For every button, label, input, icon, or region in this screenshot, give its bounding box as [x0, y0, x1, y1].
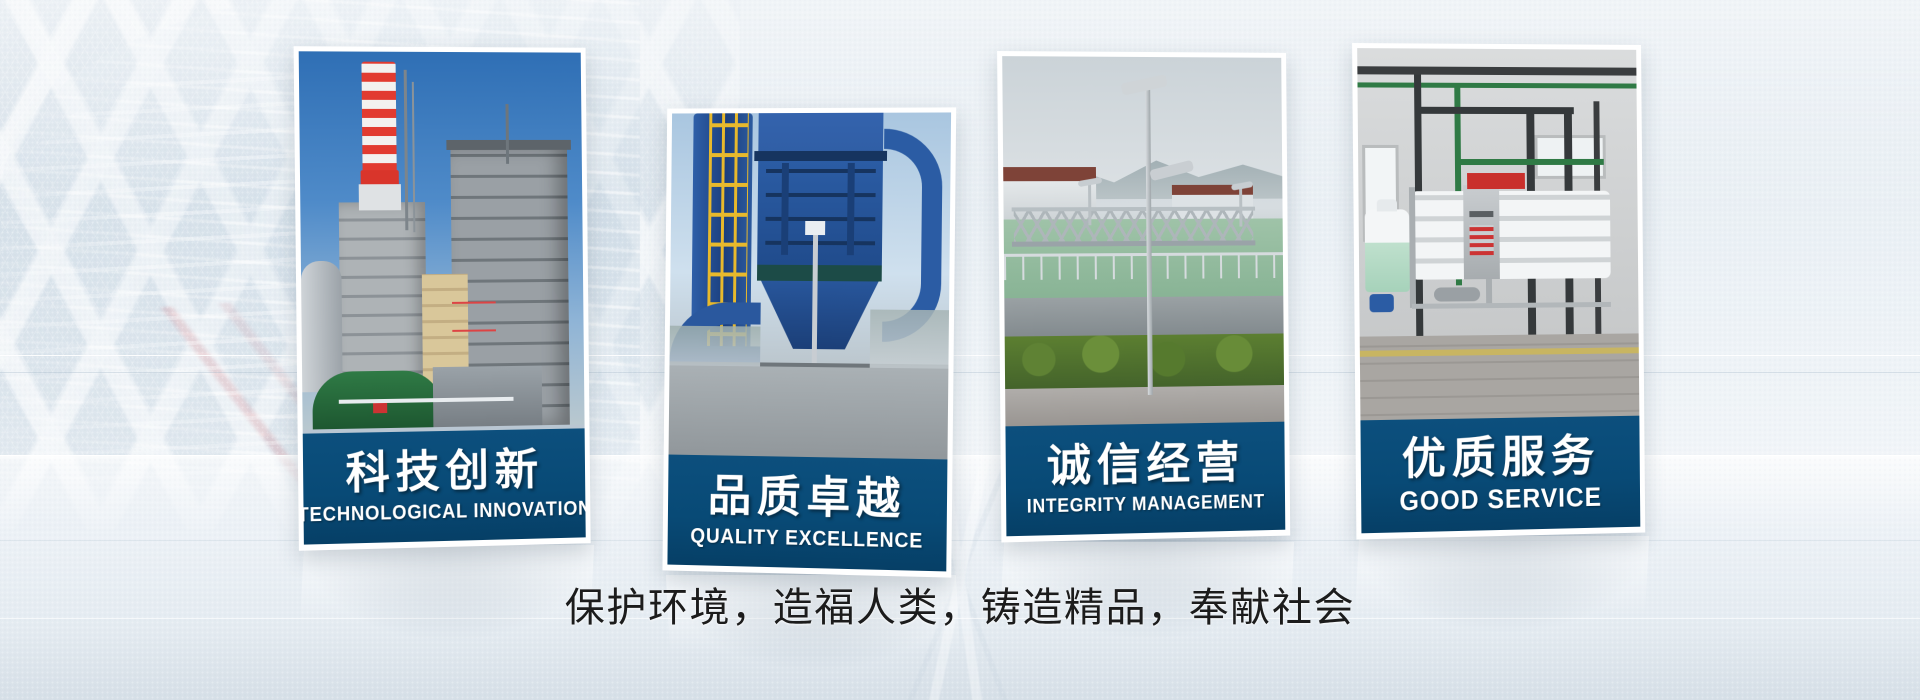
card-title-en-2: QUALITY EXCELLENCE: [690, 525, 923, 551]
card-caption-quality-excellence: 品质卓越 QUALITY EXCELLENCE: [667, 455, 947, 572]
value-card-quality-excellence[interactable]: 品质卓越 QUALITY EXCELLENCE: [662, 107, 956, 577]
value-card-good-service[interactable]: 优质服务 GOOD SERVICE: [1352, 43, 1645, 539]
background-horizon-line-4: [0, 540, 1920, 541]
value-card-integrity-management[interactable]: 诚信经营 INTEGRITY MANAGEMENT: [997, 51, 1290, 542]
card-title-en-4: GOOD SERVICE: [1400, 483, 1603, 514]
value-card-technological-innovation[interactable]: 科技创新 TECHNOLOGICAL INNOVATION: [294, 46, 591, 551]
card-photo-integrity-management: [1002, 56, 1284, 437]
banner-tagline: 保护环境，造福人类，铸造精品，奉献社会: [0, 575, 1920, 633]
card-photo-technological-innovation: [299, 51, 585, 429]
card-photo-quality-excellence: [668, 112, 951, 470]
card-photo-good-service: [1357, 48, 1639, 431]
card-title-en-1: TECHNOLOGICAL INNOVATION: [299, 499, 586, 526]
card-title-cn-2: 品质卓越: [708, 474, 907, 522]
card-caption-good-service: 优质服务 GOOD SERVICE: [1360, 416, 1640, 534]
card-title-cn-4: 优质服务: [1402, 434, 1600, 482]
card-title-cn-1: 科技创新: [345, 448, 544, 496]
card-title-en-3: INTEGRITY MANAGEMENT: [1027, 492, 1265, 516]
card-caption-technological-innovation: 科技创新 TECHNOLOGICAL INNOVATION: [303, 428, 586, 544]
card-caption-integrity-management: 诚信经营 INTEGRITY MANAGEMENT: [1005, 422, 1285, 537]
company-values-banner: 科技创新 TECHNOLOGICAL INNOVATION: [0, 0, 1920, 700]
card-title-cn-3: 诚信经营: [1047, 441, 1245, 489]
